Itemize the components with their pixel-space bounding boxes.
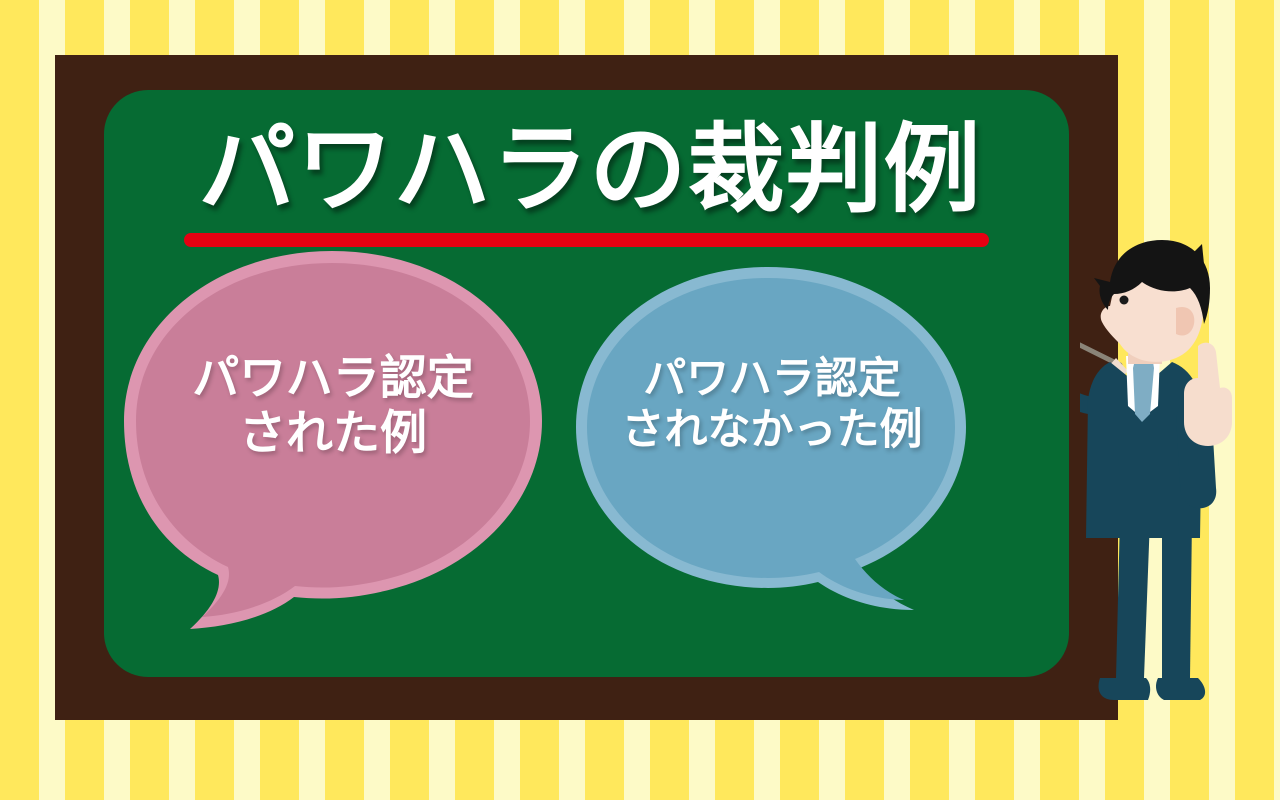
presenter-shoe-right [1156,678,1205,700]
speech-bubble-blue-line2: されなかった例 [572,405,972,456]
presenter-shoe-left [1099,678,1151,700]
presenter-leg-left [1116,518,1150,678]
speech-bubble-pink[interactable]: パワハラ認定 された例 [118,245,548,635]
presenter-hand-pointing [1184,343,1232,446]
chalkboard-frame-left-edge [55,88,67,720]
speech-bubble-pink-line1: パワハラ認定 [128,350,538,405]
presenter-eye [1120,296,1129,305]
title-block: パワハラの裁判例 [150,110,1030,260]
page-title: パワハラの裁判例 [150,116,1030,224]
poster-canvas: パワハラの裁判例 パワハラ認定 された例 パワハラ認定 されなかった例 [0,0,1280,800]
speech-bubble-pink-line2: された例 [128,405,538,460]
speech-bubble-blue-label: パワハラ認定 されなかった例 [572,354,972,455]
speech-bubble-pink-label: パワハラ認定 された例 [128,350,538,461]
presenter-illustration [1080,238,1280,720]
speech-bubble-blue[interactable]: パワハラ認定 されなかった例 [572,262,972,627]
speech-bubble-blue-line1: パワハラ認定 [572,354,972,405]
presenter-leg-right [1162,518,1192,678]
